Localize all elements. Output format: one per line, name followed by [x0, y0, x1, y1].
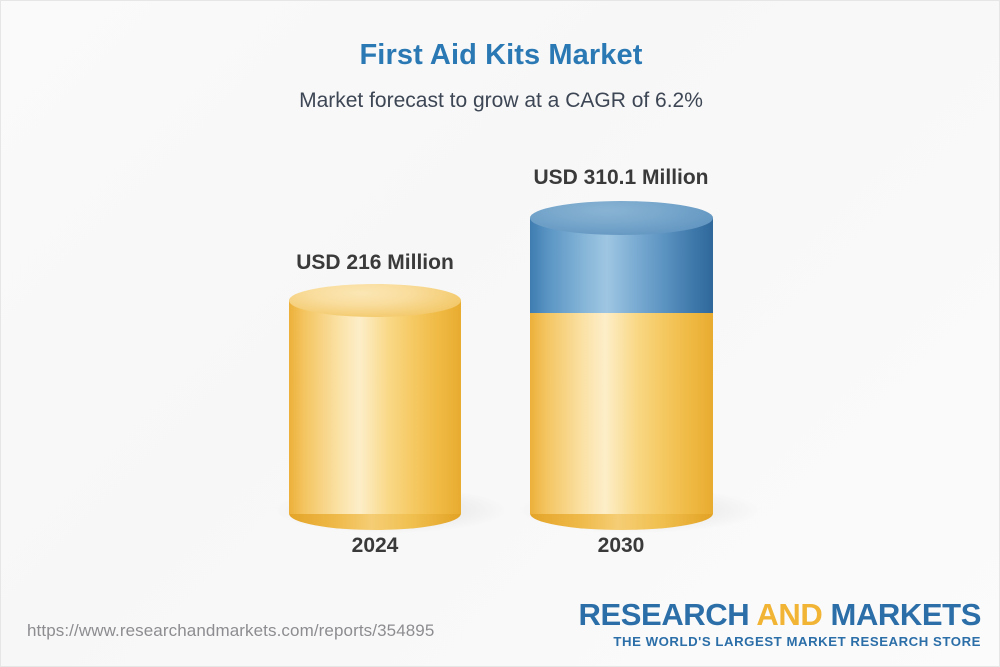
- value-label-2030: USD 310.1 Million: [501, 166, 741, 190]
- bar-2030-top-cap: [530, 201, 713, 235]
- logo-wordmark: RESEARCH AND MARKETS: [579, 599, 982, 631]
- logo-tagline: THE WORLD'S LARGEST MARKET RESEARCH STOR…: [579, 634, 982, 649]
- value-label-2024: USD 216 Million: [255, 251, 495, 275]
- bar-2030-segment-growth: [530, 201, 713, 313]
- bar-2030-base-body: [530, 313, 713, 514]
- logo-word-research: RESEARCH: [579, 597, 757, 632]
- bar-2024-body: [289, 300, 461, 514]
- chart-title: First Aid Kits Market: [1, 39, 1000, 72]
- bar-2030-segment-base: [530, 313, 713, 514]
- category-label-2030: 2030: [501, 534, 741, 558]
- bar-2024-top-cap: [289, 284, 461, 317]
- category-label-2024: 2024: [255, 534, 495, 558]
- bar-2024[interactable]: [289, 284, 461, 514]
- chart-subtitle: Market forecast to grow at a CAGR of 6.2…: [1, 89, 1000, 113]
- chart-canvas: First Aid Kits Market Market forecast to…: [0, 0, 1000, 667]
- bar-2024-segment-base: [289, 284, 461, 514]
- source-url[interactable]: https://www.researchandmarkets.com/repor…: [27, 621, 434, 641]
- logo-word-and: AND: [756, 597, 822, 632]
- bar-2030[interactable]: [530, 201, 713, 514]
- logo-word-markets: MARKETS: [822, 597, 981, 632]
- research-and-markets-logo[interactable]: RESEARCH AND MARKETS THE WORLD'S LARGEST…: [579, 599, 982, 649]
